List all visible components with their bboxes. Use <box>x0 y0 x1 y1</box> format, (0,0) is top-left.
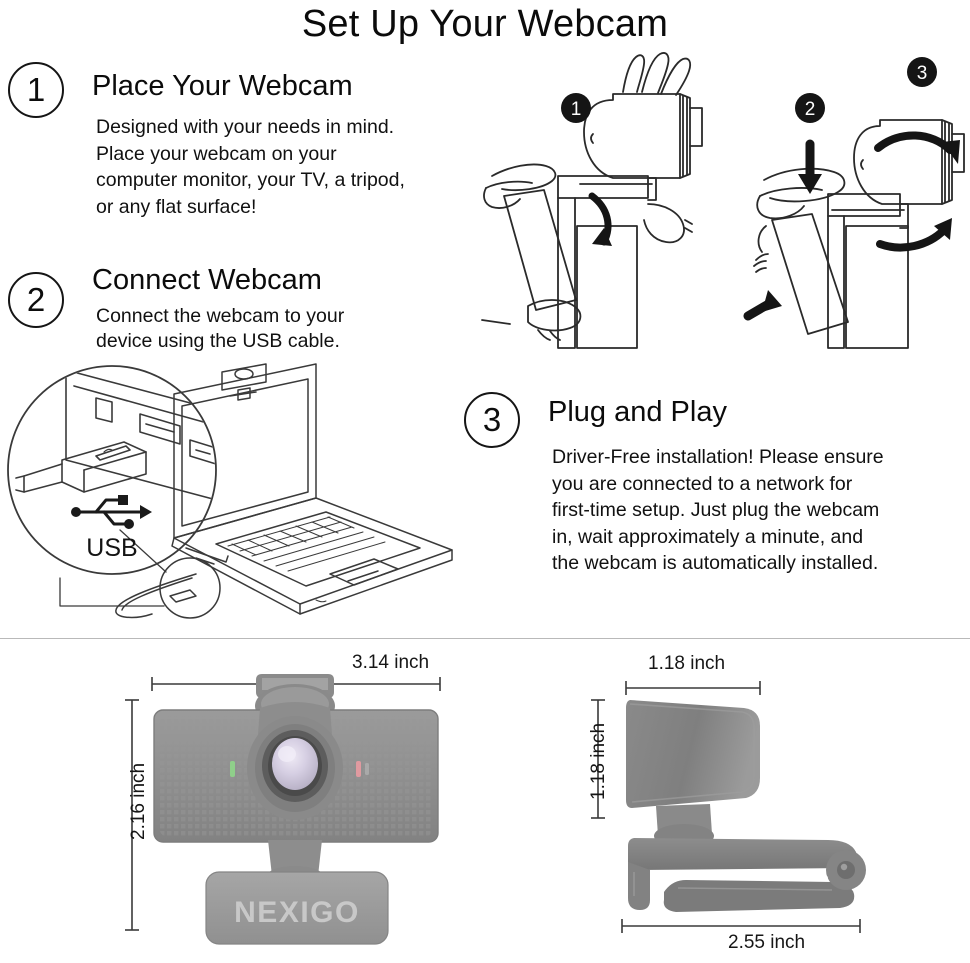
side-depth-dimension <box>622 919 860 933</box>
illustration-badge-1: 1 <box>561 93 591 123</box>
step-1-body-line: or any flat surface! <box>96 194 405 221</box>
step-2-number-badge: 2 <box>8 272 64 328</box>
step-2-heading: Connect Webcam <box>92 266 322 295</box>
section-divider <box>0 638 970 639</box>
side-depth-label: 2.55 inch <box>728 932 805 954</box>
step-1-body-line: computer monitor, your TV, a tripod, <box>96 167 405 194</box>
illustration-badge-1-label: 1 <box>571 99 582 120</box>
illustration-usb-connection: USB <box>0 352 470 624</box>
led-indicator-red <box>356 761 361 777</box>
step-1-body: Designed with your needs in mind. Place … <box>96 114 405 220</box>
step-1-body-line: Designed with your needs in mind. <box>96 114 405 141</box>
step-1-body-line: Place your webcam on your <box>96 141 405 168</box>
step-1: 1 Place Your Webcam Designed with your n… <box>8 62 488 262</box>
illustration-badge-2-label: 2 <box>805 99 816 120</box>
step-2-body-line: Connect the webcam to your <box>96 304 344 329</box>
webcam-base: NEXIGO <box>206 872 388 944</box>
step-3-number-badge: 3 <box>464 392 520 448</box>
step-3-body-line: in, wait approximately a minute, and <box>552 524 884 551</box>
page-title: Set Up Your Webcam <box>0 0 970 48</box>
camera-lens <box>272 738 318 790</box>
side-width-dimension <box>626 681 760 695</box>
step-1-heading: Place Your Webcam <box>92 72 353 101</box>
illustration-mount-webcam: 1 2 3 <box>480 48 970 378</box>
step-3-body-line: first-time setup. Just plug the webcam <box>552 497 884 524</box>
side-width-label: 1.18 inch <box>648 653 725 675</box>
step-3-heading: Plug and Play <box>548 398 727 427</box>
step-3-body-line: the webcam is automatically installed. <box>552 550 884 577</box>
side-height-label: 1.18 inch <box>588 723 610 800</box>
step-1-number-badge: 1 <box>8 62 64 118</box>
step-3-body-line: you are connected to a network for <box>552 471 884 498</box>
step-3-body: Driver-Free installation! Please ensure … <box>552 444 884 577</box>
product-side-view <box>560 648 960 958</box>
front-width-label: 3.14 inch <box>352 652 429 674</box>
step-2-body-line: device using the USB cable. <box>96 329 344 354</box>
usb-callout-label: USB <box>86 534 137 562</box>
brand-logo: NEXIGO <box>234 896 360 929</box>
webcam-body-side <box>626 700 760 808</box>
lens-housing <box>247 702 343 820</box>
illustration-badge-3: 3 <box>907 57 937 87</box>
webcam-clip <box>628 838 866 912</box>
step-3-body-line: Driver-Free installation! Please ensure <box>552 444 884 471</box>
illustration-badge-2: 2 <box>795 93 825 123</box>
front-height-label: 2.16 inch <box>128 763 150 840</box>
led-indicator-green <box>230 761 235 777</box>
step-2-body: Connect the webcam to your device using … <box>96 304 344 354</box>
poster-root: Set Up Your Webcam 1 Place Your Webcam D… <box>0 0 970 963</box>
product-front-view: NEXIGO <box>110 648 510 958</box>
usb-trident-icon <box>71 495 152 529</box>
step-3: 3 Plug and Play Driver-Free installation… <box>464 392 964 612</box>
illustration-badge-3-label: 3 <box>917 63 928 84</box>
